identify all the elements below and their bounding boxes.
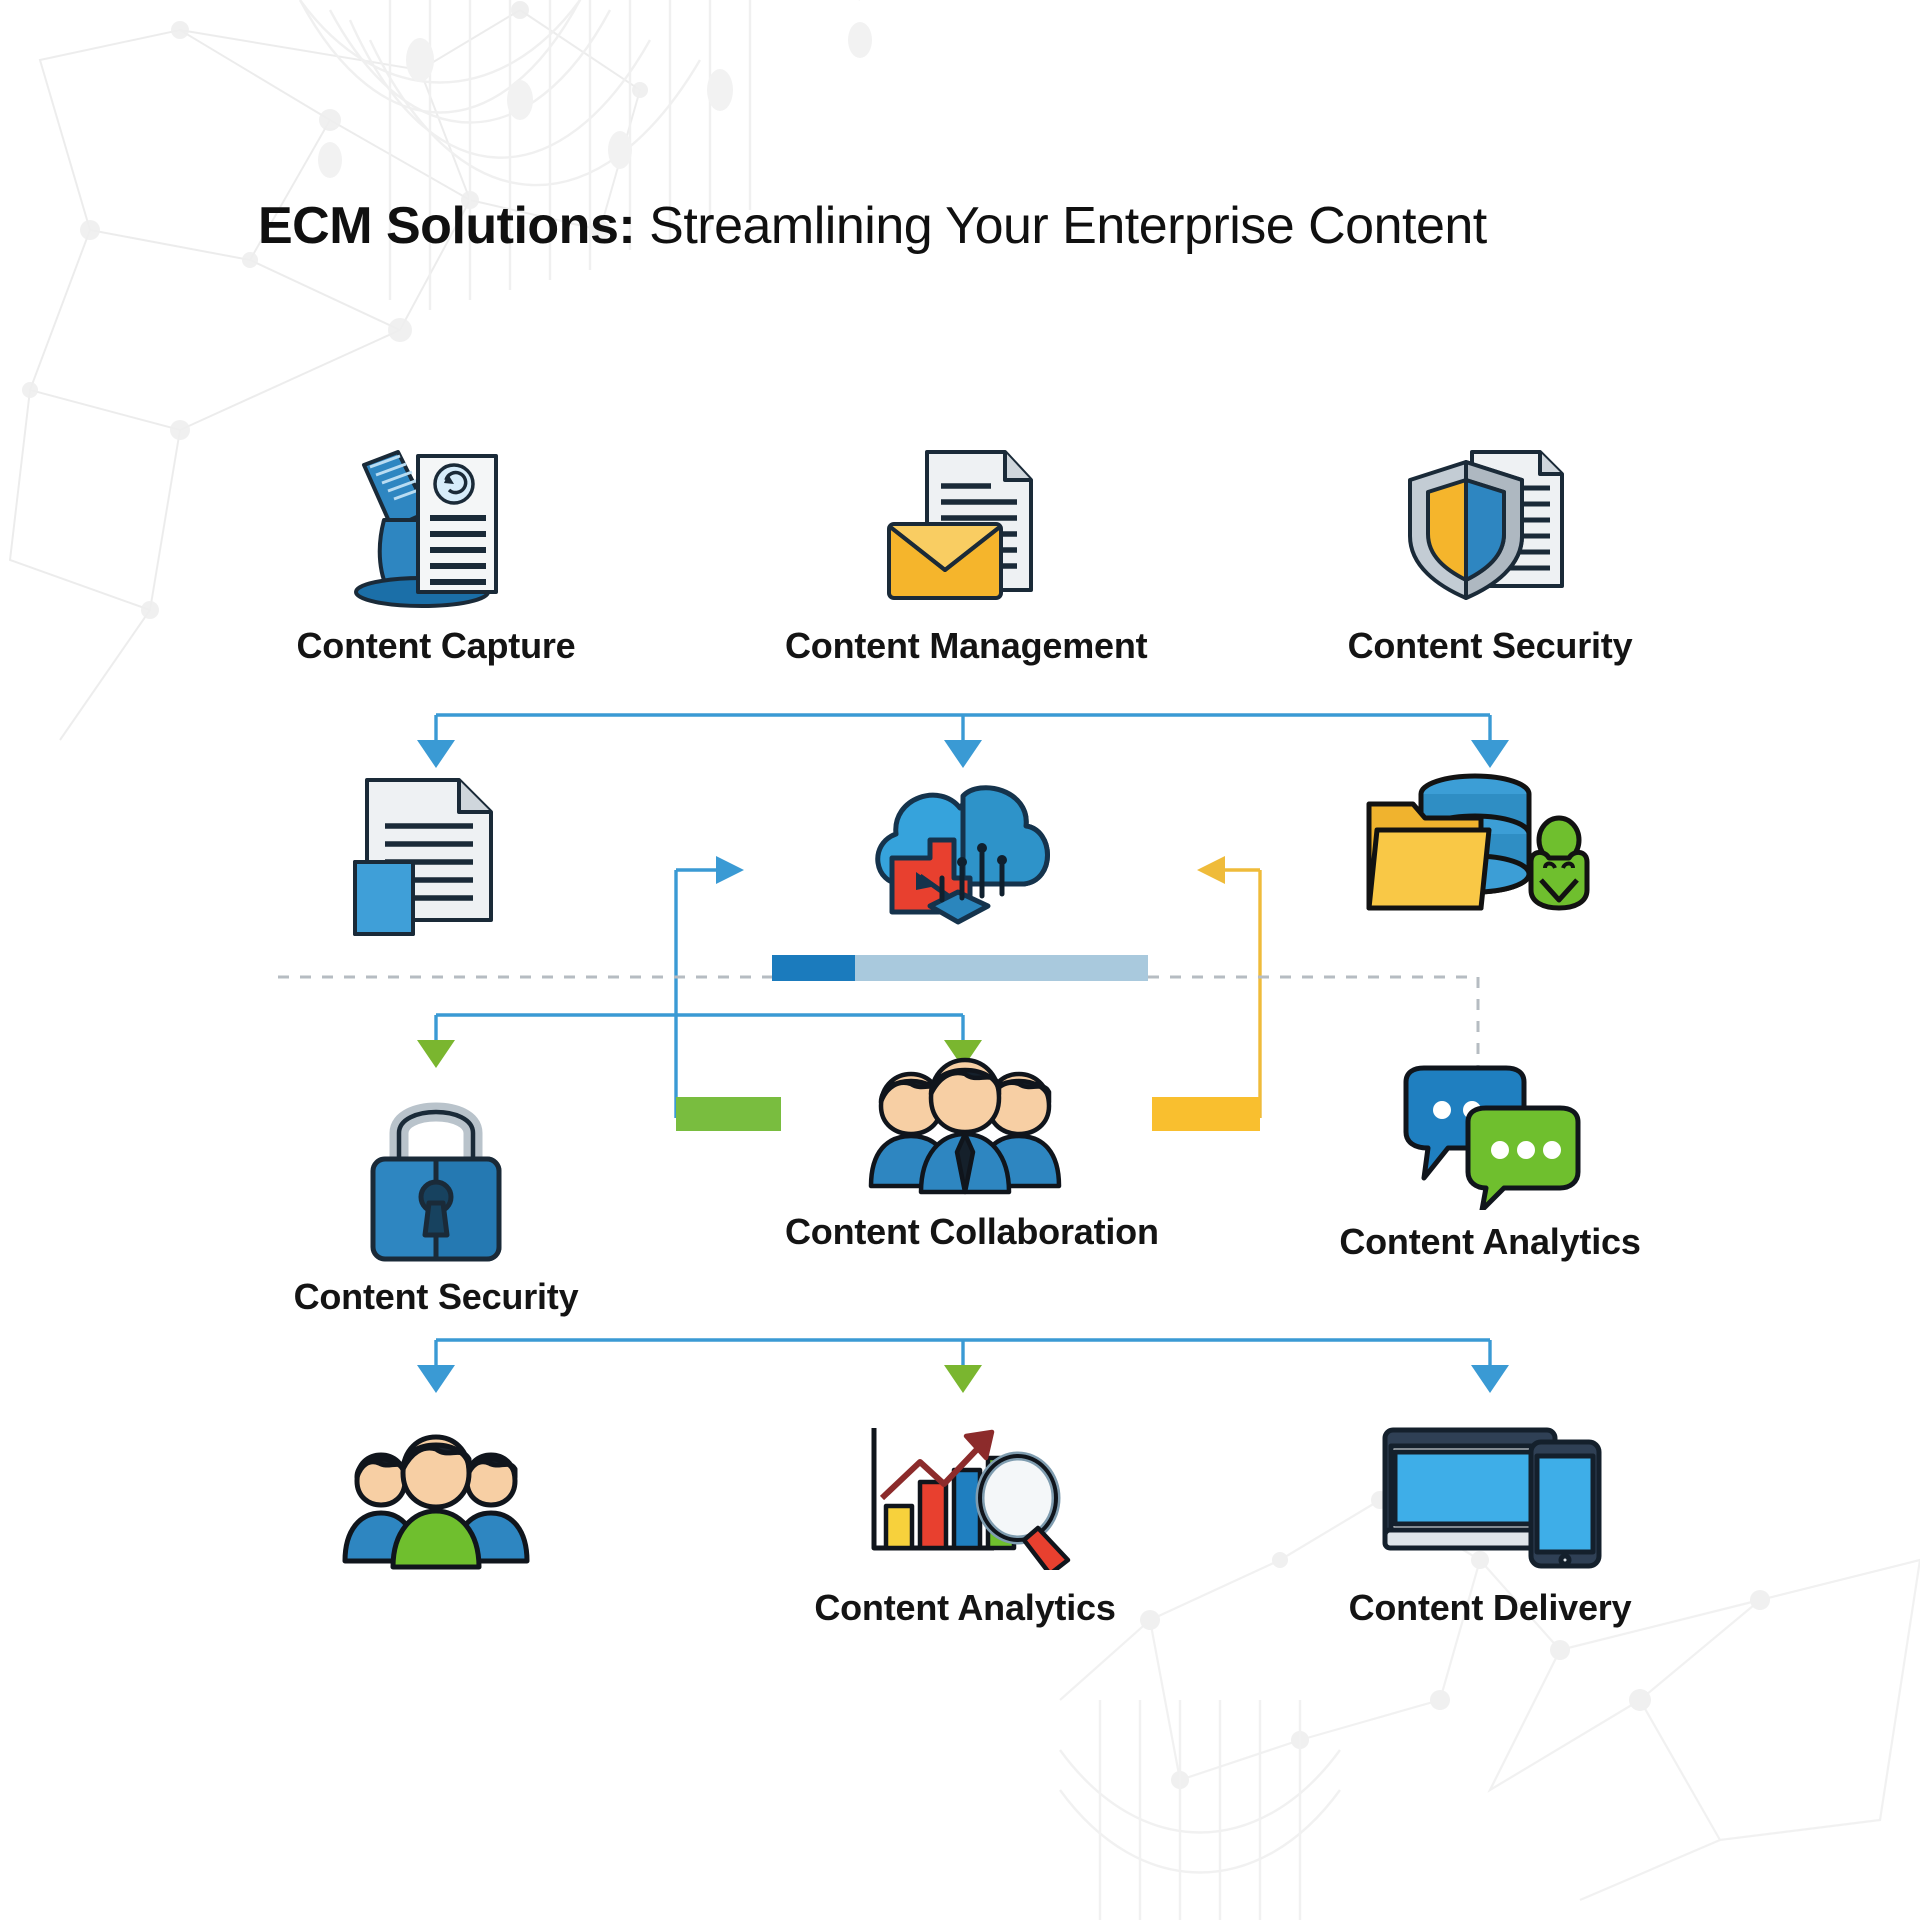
label-content-management: Content Management	[785, 628, 1145, 664]
node-documents[interactable]	[300, 770, 572, 950]
label-content-security-top: Content Security	[1310, 628, 1670, 664]
progress-bar-fill	[772, 955, 855, 981]
node-cloud-storage[interactable]	[835, 768, 1091, 948]
yellow-accent-bar	[1152, 1097, 1260, 1131]
page-title-rest: Streamlining Your Enterprise Content	[635, 197, 1487, 255]
progress-bar	[772, 955, 1148, 981]
node-content-management[interactable]: Content Management	[785, 440, 1145, 664]
node-database-folder[interactable]	[1335, 768, 1625, 948]
green-accent-bar	[676, 1097, 781, 1131]
users-group-icon	[331, 1425, 541, 1575]
label-content-capture: Content Capture	[256, 628, 616, 664]
document-envelope-icon	[865, 440, 1065, 610]
monitor-tablet-icon	[1375, 1420, 1605, 1570]
page-title: ECM Solutions: Streamlining Your Enterpr…	[258, 196, 1487, 256]
shield-document-icon	[1390, 440, 1590, 610]
padlock-icon	[351, 1085, 521, 1265]
node-content-capture[interactable]: Content Capture	[256, 440, 616, 664]
node-content-analytics-bottom[interactable]: Content Analytics	[785, 1420, 1145, 1626]
cloud-data-icon	[858, 768, 1068, 948]
node-content-security-top[interactable]: Content Security	[1310, 440, 1670, 664]
label-content-analytics-mid: Content Analytics	[1310, 1224, 1670, 1260]
page-title-bold: ECM Solutions:	[258, 197, 635, 255]
node-content-analytics-mid[interactable]: Content Analytics	[1310, 1060, 1670, 1260]
label-content-collaboration: Content Collaboration	[785, 1214, 1145, 1250]
node-users[interactable]	[286, 1425, 586, 1575]
label-content-delivery: Content Delivery	[1310, 1590, 1670, 1626]
team-people-icon	[865, 1040, 1065, 1200]
label-content-analytics-bottom: Content Analytics	[785, 1590, 1145, 1626]
node-content-security-mid[interactable]: Content Security	[256, 1085, 616, 1315]
node-content-delivery[interactable]: Content Delivery	[1310, 1420, 1670, 1626]
stacked-documents-icon	[341, 770, 531, 950]
chat-bubbles-icon	[1390, 1060, 1590, 1210]
infographic-canvas: ECM Solutions: Streamlining Your Enterpr…	[0, 0, 1920, 1920]
node-content-collaboration[interactable]: Content Collaboration	[785, 1040, 1145, 1250]
database-folder-lock-icon	[1355, 768, 1605, 948]
scanner-document-icon	[336, 440, 536, 610]
label-content-security-mid: Content Security	[256, 1279, 616, 1315]
bar-chart-magnifier-icon	[858, 1420, 1073, 1570]
